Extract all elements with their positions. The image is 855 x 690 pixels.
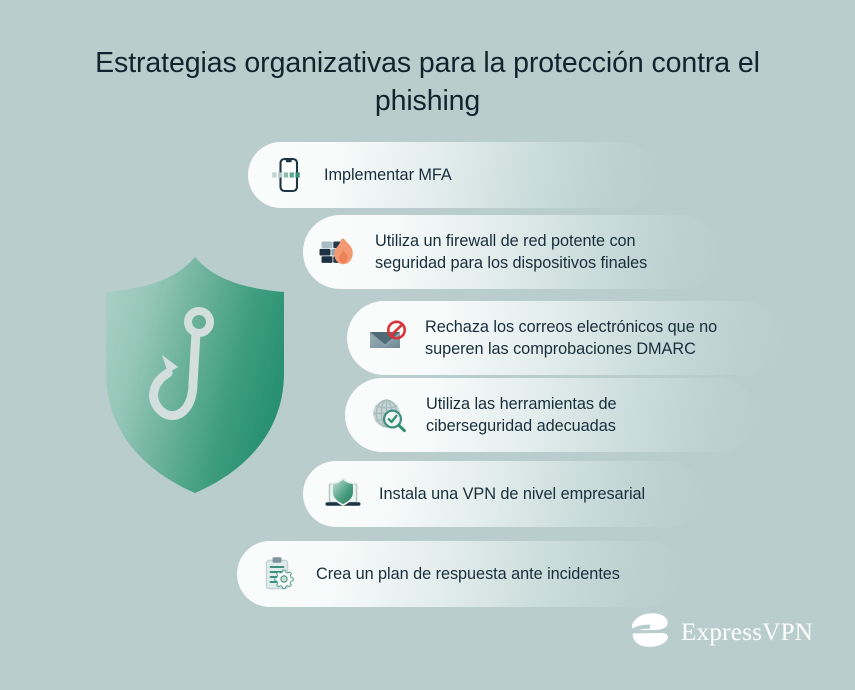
expressvpn-e-logo-icon	[630, 612, 670, 653]
expressvpn-logo: ExpressVPN	[630, 612, 813, 653]
phishing-shield-illustration	[100, 255, 290, 495]
strategy-label: Instala una VPN de nivel empresarial	[379, 483, 645, 506]
mobile-phone-otp-icon	[268, 155, 308, 195]
strategy-label: Utiliza un firewall de red potente con s…	[375, 230, 647, 275]
strategy-pill[interactable]: Rechaza los correos electrónicos que no …	[347, 301, 781, 375]
rejected-email-icon	[367, 318, 407, 358]
globe-search-check-icon	[369, 395, 409, 435]
strategy-label: Utiliza las herramientas de cibersegurid…	[426, 393, 617, 438]
strategy-pill[interactable]: Instala una VPN de nivel empresarial	[303, 461, 701, 527]
strategy-pill[interactable]: Utiliza las herramientas de cibersegurid…	[345, 378, 756, 452]
firewall-flame-icon	[318, 232, 358, 272]
infographic-canvas: Estrategias organizativas para la protec…	[0, 0, 855, 690]
strategy-pill[interactable]: Implementar MFA	[248, 142, 656, 208]
strategy-label: Rechaza los correos electrónicos que no …	[425, 316, 717, 361]
strategy-label: Implementar MFA	[324, 164, 452, 187]
strategy-pill[interactable]: Utiliza un firewall de red potente con s…	[303, 215, 718, 289]
clipboard-gear-icon	[259, 554, 299, 594]
pill-background	[248, 142, 656, 208]
expressvpn-wordmark: ExpressVPN	[681, 620, 813, 645]
strategy-label: Crea un plan de respuesta ante incidente…	[316, 563, 620, 586]
laptop-shield-vpn-icon	[323, 474, 363, 514]
strategy-pill[interactable]: Crea un plan de respuesta ante incidente…	[237, 541, 681, 607]
page-title: Estrategias organizativas para la protec…	[45, 44, 810, 120]
